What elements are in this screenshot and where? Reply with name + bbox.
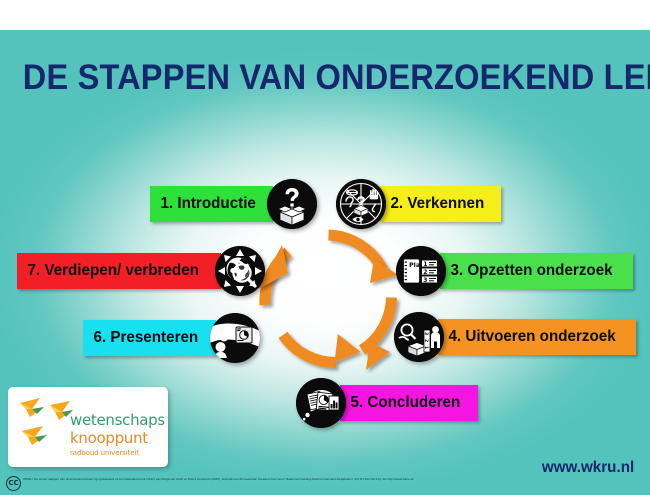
step-1-label-bar: 1. Introductie — [150, 186, 273, 222]
step-7-label-bar: 7. Verdiepen/ verbreden — [17, 253, 221, 289]
cycle-arc-right-bottom — [362, 298, 392, 351]
step-3-opzetten-onderzoek[interactable]: Plan 1 2 3 — [396, 249, 633, 293]
cycle-arrows-svg — [252, 223, 404, 375]
step-6-label-bar: 6. Presenteren — [83, 320, 216, 356]
step-7-label: 7. Verdiepen/ verbreden — [17, 262, 210, 280]
step-5-label: 5. Concluderen — [340, 394, 471, 412]
poster-canvas: DE STAPPEN VAN ONDERZOEKEND LEREN — [0, 30, 650, 495]
step-2-label-bar: 2. Verkennen — [380, 186, 501, 222]
step-2-verkennen[interactable]: 2. Verkennen — [336, 182, 501, 226]
svg-text:1: 1 — [423, 261, 427, 268]
logo-text: wetenschaps knooppunt radboud universite… — [70, 413, 165, 457]
plan-notebook-icon: Plan 1 2 3 — [396, 246, 446, 296]
box-question-icon — [267, 179, 317, 229]
charts-thought-icon — [296, 378, 346, 428]
globe-magnifier-icon — [215, 246, 265, 296]
cycle-arrows-diagram — [252, 223, 404, 375]
step-5-concluderen[interactable]: 5. Concluderen — [296, 381, 478, 425]
step-1-label: 1. Introductie — [150, 195, 267, 213]
license-fineprint: WKRU. De zeven stappen van onderzoekend … — [23, 476, 443, 483]
step-4-label-bar: 4. Uitvoeren onderzoek — [438, 319, 636, 355]
logo-line-3: radboud universiteit — [70, 450, 165, 457]
logo-line-2: knooppunt — [70, 431, 165, 446]
step-6-label: 6. Presenteren — [83, 329, 210, 347]
creative-commons-icon: CC — [6, 476, 21, 491]
cycle-arc-bottom-left — [283, 335, 336, 363]
step-6-presenteren[interactable]: 6. Presenteren — [83, 316, 260, 360]
step-3-label-bar: 3. Opzetten onderzoek — [440, 253, 633, 289]
cycle-arrowhead-2 — [366, 342, 390, 370]
step-4-label: 4. Uitvoeren onderzoek — [438, 328, 626, 346]
svg-text:2: 2 — [423, 269, 427, 276]
step-5-label-bar: 5. Concluderen — [340, 385, 478, 421]
svg-text:3: 3 — [423, 332, 429, 335]
logo-line-1: wetenschaps — [70, 413, 165, 428]
svg-text:2: 2 — [423, 339, 429, 342]
presentation-audience-icon — [210, 313, 260, 363]
poster-root: DE STAPPEN VAN ONDERZOEKEND LEREN — [0, 0, 650, 495]
step-3-label: 3. Opzetten onderzoek — [440, 262, 623, 280]
top-white-band — [0, 0, 650, 30]
wkru-url[interactable]: www.wkru.nl — [542, 459, 634, 477]
wetenschapsknooppunt-logo: wetenschaps knooppunt radboud universite… — [8, 387, 168, 467]
experiment-hands-icon: 3 2 1 — [394, 312, 444, 362]
step-2-label: 2. Verkennen — [380, 195, 495, 213]
step-1-introductie[interactable]: 1. Introductie — [150, 182, 317, 226]
page-title: DE STAPPEN VAN ONDERZOEKEND LEREN — [23, 58, 628, 98]
senses-wheel-icon — [336, 179, 386, 229]
step-7-verdiepen-verbreden[interactable]: 7. Verdiepen/ verbreden — [17, 249, 265, 293]
step-4-uitvoeren-onderzoek[interactable]: 3 2 1 4. Uitvoeren onderzoek — [394, 315, 636, 359]
svg-text:3: 3 — [423, 277, 427, 284]
svg-text:1: 1 — [423, 346, 429, 349]
